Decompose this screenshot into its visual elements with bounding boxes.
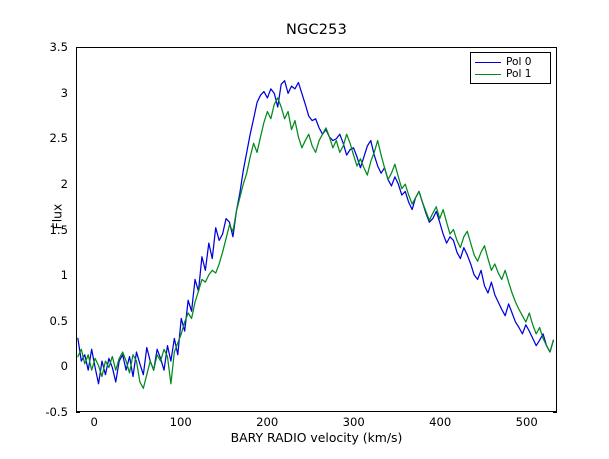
legend-label: Pol 0 <box>506 56 532 68</box>
series-line-0 <box>78 81 554 384</box>
y-tick-label: -0.5 <box>28 405 68 419</box>
x-tick-label: 400 <box>429 415 451 429</box>
legend-swatch-line-icon <box>475 62 501 63</box>
figure-canvas: NGC253 Flux BARY RADIO velocity (km/s) 0… <box>0 0 609 459</box>
y-tick-label: 3 <box>28 86 68 100</box>
legend-item-0[interactable]: Pol 0 <box>475 56 546 68</box>
series-line-1 <box>78 98 554 388</box>
y-tick-label: 0.5 <box>28 314 68 328</box>
legend-label: Pol 1 <box>506 68 532 80</box>
legend-swatch-line-icon <box>475 74 501 75</box>
y-tick-label: 1 <box>28 268 68 282</box>
y-tick-label: 2.5 <box>28 131 68 145</box>
series-group <box>78 81 554 389</box>
y-axis-label: Flux <box>50 157 65 277</box>
plot-area <box>76 47 557 412</box>
y-tick-label: 2 <box>28 177 68 191</box>
x-tick-label: 100 <box>170 415 192 429</box>
y-tick-label: 3.5 <box>28 40 68 54</box>
legend-box[interactable]: Pol 0Pol 1 <box>470 52 551 84</box>
y-tick-label: 1.5 <box>28 223 68 237</box>
x-tick-label: 300 <box>343 415 365 429</box>
series-canvas <box>77 48 556 411</box>
x-tick-label: 200 <box>256 415 278 429</box>
y-tick-label: 0 <box>28 359 68 373</box>
y-tickmark <box>76 412 80 413</box>
legend-item-1[interactable]: Pol 1 <box>475 68 546 80</box>
x-tick-label: 500 <box>516 415 538 429</box>
y-tickmark-right <box>553 412 557 413</box>
x-tick-label: 0 <box>90 415 97 429</box>
chart-title: NGC253 <box>76 22 557 38</box>
x-axis-label: BARY RADIO velocity (km/s) <box>76 430 557 445</box>
